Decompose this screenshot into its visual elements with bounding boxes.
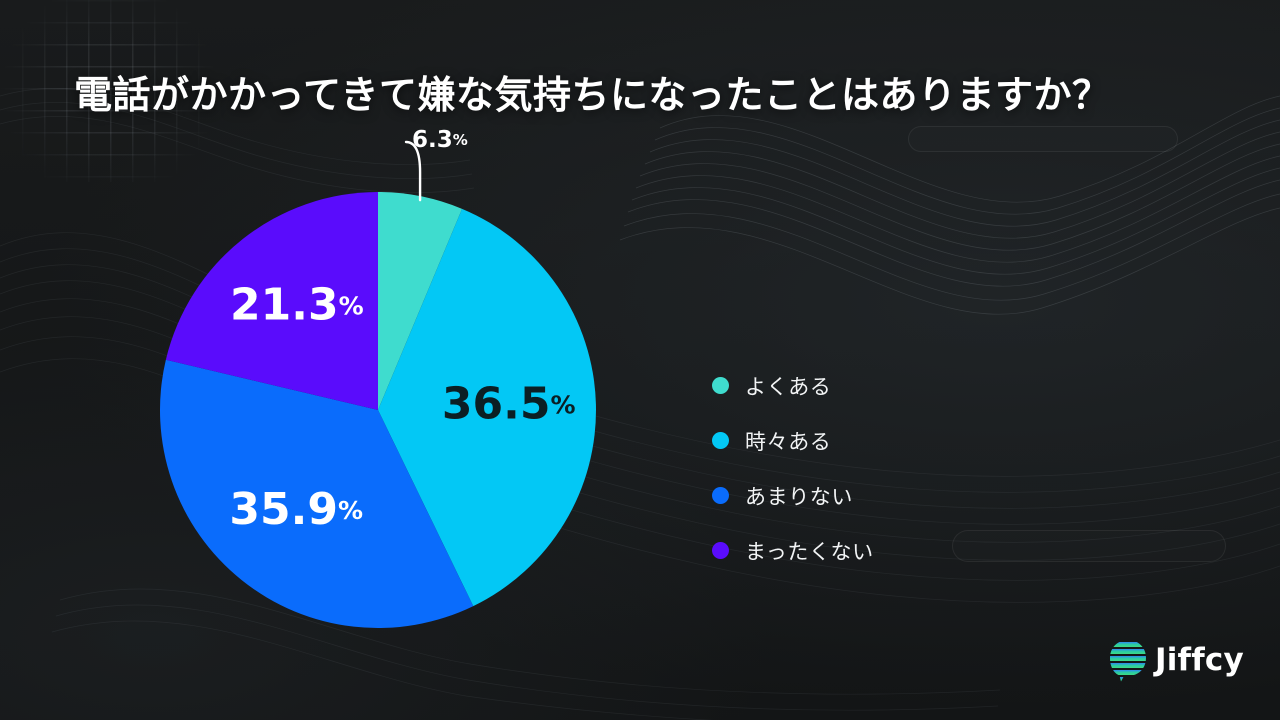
legend-item[interactable]: 時々ある xyxy=(712,413,1012,468)
legend-item[interactable]: よくある xyxy=(712,358,1012,413)
legend-color-swatch xyxy=(712,487,729,504)
background-pill-top xyxy=(908,126,1178,152)
legend-color-swatch xyxy=(712,542,729,559)
brand-logo: Jiffcy xyxy=(1108,638,1244,682)
legend-item[interactable]: まったくない xyxy=(712,523,1012,578)
legend-item-label: よくある xyxy=(745,371,831,401)
legend-item-label: 時々ある xyxy=(745,426,831,456)
legend-item-label: あまりない xyxy=(745,481,853,511)
chart-legend: よくある時々あるあまりないまったくない xyxy=(712,358,1012,578)
legend-color-swatch xyxy=(712,377,729,394)
pie-chart: 6.3%36.5%35.9%21.3% xyxy=(150,182,610,642)
brand-logo-text: Jiffcy xyxy=(1155,645,1244,676)
page-title: 電話がかかってきて嫌な気持ちになったことはありますか？ xyxy=(74,72,1214,120)
legend-item[interactable]: あまりない xyxy=(712,468,1012,523)
legend-color-swatch xyxy=(712,432,729,449)
legend-item-label: まったくない xyxy=(745,536,874,566)
jiffcy-bubble-icon xyxy=(1108,638,1148,682)
pie-slice-callout-label: 6.3% xyxy=(412,127,468,153)
slide-canvas: 電話がかかってきて嫌な気持ちになったことはありますか？ 6.3%36.5%35.… xyxy=(0,0,1280,720)
